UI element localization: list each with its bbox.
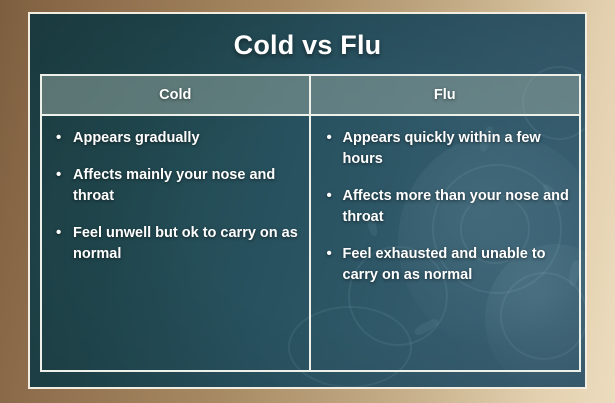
slide-surface: Cold vs Flu Cold Flu Appears grad [30, 14, 585, 387]
comparison-table: Cold Flu Appears gradually Affects mainl… [40, 74, 581, 372]
flu-bullet-container: Appears quickly within a few hours Affec… [311, 116, 580, 294]
cold-bullet-container: Appears gradually Affects mainly your no… [42, 116, 309, 273]
list-item: Affects more than your nose and throat [327, 186, 572, 228]
table-header-cell-flu: Flu [311, 76, 580, 114]
list-item: Appears quickly within a few hours [327, 128, 572, 170]
list-item: Feel unwell but ok to carry on as normal [56, 223, 301, 265]
flu-bullet-list: Appears quickly within a few hours Affec… [327, 128, 572, 286]
column-header-label: Cold [159, 87, 191, 103]
inner-white-frame: Cold vs Flu Cold Flu Appears grad [28, 12, 587, 389]
table-cell-flu: Appears quickly within a few hours Affec… [311, 116, 580, 370]
cold-bullet-list: Appears gradually Affects mainly your no… [56, 128, 301, 265]
table-cell-cold: Appears gradually Affects mainly your no… [42, 116, 311, 370]
table-header-cell-cold: Cold [42, 76, 311, 114]
slide-image: Cold vs Flu Cold Flu Appears grad [0, 0, 615, 403]
page-title: Cold vs Flu [30, 30, 585, 61]
list-item: Feel exhausted and unable to carry on as… [327, 244, 572, 286]
list-item: Appears gradually [56, 128, 301, 149]
list-item: Affects mainly your nose and throat [56, 165, 301, 207]
column-header-label: Flu [434, 87, 456, 103]
table-header-row: Cold Flu [42, 76, 579, 116]
table-body-row: Appears gradually Affects mainly your no… [42, 116, 579, 370]
